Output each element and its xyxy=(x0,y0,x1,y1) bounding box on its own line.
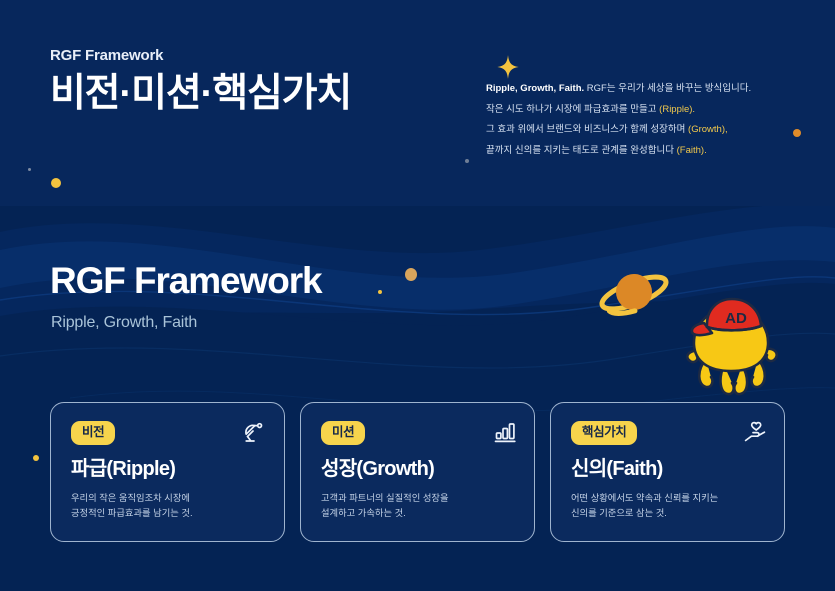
card-mission-badge: 미션 xyxy=(321,421,365,445)
lede-line-4-text: 끝까지 신의를 지키는 태도로 관계를 완성합니다 xyxy=(486,145,677,156)
card-vision-title: 파급(Ripple) xyxy=(71,458,264,480)
lede-line-3-text: 그 효과 위에서 브랜드와 비즈니스가 함께 성장하며 xyxy=(486,124,688,135)
card-core-value-desc-line2: 신의를 기준으로 삼는 것. xyxy=(571,506,764,521)
lede-line-1-rest: RGF는 우리가 세상을 바꾸는 방식입니다. xyxy=(584,83,751,94)
card-core-value-desc-line1: 어떤 상황에서도 약속과 신뢰를 지키는 xyxy=(571,491,764,506)
lede-line-4-tag: (Faith). xyxy=(677,145,707,156)
decor-dot-gray-mid xyxy=(465,159,469,163)
lede-line-3: 그 효과 위에서 브랜드와 비즈니스가 함께 성장하며 (Growth), xyxy=(486,123,806,138)
card-mission-desc-line1: 고객과 파트너의 실질적인 성장을 xyxy=(321,491,514,506)
decor-dot-yellow-lower-left xyxy=(33,455,39,461)
card-vision-badge: 비전 xyxy=(71,421,115,445)
lede-line-2-tag: (Ripple). xyxy=(659,104,695,115)
sparkle-star-icon xyxy=(497,55,519,79)
value-cards-row: 비전 파급(Ripple) 우리의 작은 움직임조차 시장에 긍정적인 파급효과… xyxy=(50,402,786,542)
lede-line-1-strong: Ripple, Growth, Faith. xyxy=(486,83,584,94)
card-core-value-description: 어떤 상황에서도 약속과 신뢰를 지키는 신의를 기준으로 삼는 것. xyxy=(571,491,764,521)
decor-dot-orange-right xyxy=(793,129,801,137)
card-mission-desc-line2: 설계하고 가속하는 것. xyxy=(321,506,514,521)
header-text-block: RGF Framework 비전·미션·핵심가치 xyxy=(50,47,351,116)
card-mission-description: 고객과 파트너의 실질적인 성장을 설계하고 가속하는 것. xyxy=(321,491,514,521)
decor-dot-yellow-left xyxy=(51,178,61,188)
decor-dot-tan-mid xyxy=(405,268,417,281)
lede-line-2: 작은 시도 하나가 시장에 파급효과를 만들고 (Ripple). xyxy=(486,103,806,118)
header-kicker: RGF Framework xyxy=(50,47,351,64)
card-vision-desc-line2: 긍정적인 파급효과를 남기는 것. xyxy=(71,506,264,521)
lede-line-4: 끝까지 신의를 지키는 태도로 관계를 완성합니다 (Faith). xyxy=(486,144,806,159)
saturn-planet-icon xyxy=(598,265,670,321)
lede-line-2-text: 작은 시도 하나가 시장에 파급효과를 만들고 xyxy=(486,104,659,115)
card-core-value[interactable]: 핵심가치 신의(Faith) 어떤 상황에서도 약속과 신뢰를 지키는 신의를 … xyxy=(550,402,785,542)
lede-line-1: Ripple, Growth, Faith. RGF는 우리가 세상을 바꾸는 … xyxy=(486,82,806,97)
hero-subtitle: Ripple, Growth, Faith xyxy=(51,314,197,332)
bar-chart-icon xyxy=(493,420,517,444)
card-core-value-badge: 핵심가치 xyxy=(571,421,637,445)
card-core-value-title: 신의(Faith) xyxy=(571,458,764,480)
card-vision[interactable]: 비전 파급(Ripple) 우리의 작은 움직임조차 시장에 긍정적인 파급효과… xyxy=(50,402,285,542)
slide-canvas: RGF Framework 비전·미션·핵심가치 Ripple, Growth,… xyxy=(0,0,835,591)
hand-heart-icon xyxy=(743,420,767,444)
mascot-cap-text: AD xyxy=(725,310,747,327)
decor-dot-gray-left xyxy=(28,168,31,171)
satellite-dish-icon xyxy=(243,420,267,444)
hero-title: RGF Framework xyxy=(50,262,322,299)
octopus-mascot: AD xyxy=(676,291,786,403)
page-title: 비전·미션·핵심가치 xyxy=(50,72,351,116)
header-lede-paragraph: Ripple, Growth, Faith. RGF는 우리가 세상을 바꾸는 … xyxy=(486,82,806,159)
card-vision-description: 우리의 작은 움직임조차 시장에 긍정적인 파급효과를 남기는 것. xyxy=(71,491,264,521)
header-band: RGF Framework 비전·미션·핵심가치 Ripple, Growth,… xyxy=(0,0,835,206)
lede-line-3-tag: (Growth), xyxy=(688,124,728,135)
card-mission-title: 성장(Growth) xyxy=(321,458,514,480)
decor-dot-small-yellow-mid xyxy=(378,290,382,294)
card-vision-desc-line1: 우리의 작은 움직임조차 시장에 xyxy=(71,491,264,506)
card-mission[interactable]: 미션 성장(Growth) 고객과 파트너의 실질적인 성장을 설계하고 가속하… xyxy=(300,402,535,542)
